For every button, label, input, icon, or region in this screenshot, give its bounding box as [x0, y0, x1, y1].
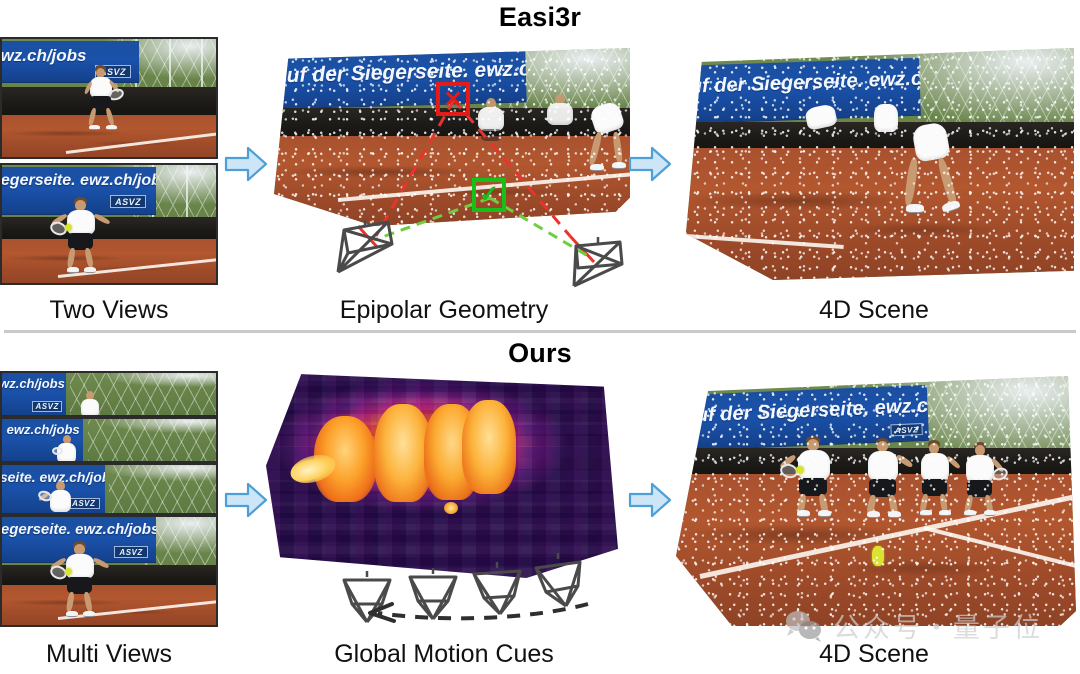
section-divider: [4, 330, 1076, 333]
camera-frustum-icon: [344, 571, 390, 622]
player-shoe: [67, 267, 79, 273]
player-shirt: [966, 455, 994, 482]
banner-text: auf der Siegerseite. ewz.ch/jobs: [678, 66, 920, 100]
player-shoe: [920, 510, 932, 516]
player-shirt: [66, 554, 94, 579]
tennis-court-scene: auf der Siegerseite. ewz.ch/jobs: [678, 48, 1074, 280]
tennis-player: [50, 541, 108, 619]
sponsor-badge: ASVZ: [32, 401, 62, 412]
scene-panel-ours: auf der Siegerseite. ewz.ch/jobs ASVZ: [672, 372, 1076, 630]
caption-4d-scene-top: 4D Scene: [672, 296, 1076, 325]
banner-text: egerseite. ewz.ch/jobs: [1, 172, 156, 190]
player-shirt: [868, 451, 898, 481]
player-shirt: [67, 210, 95, 235]
caption-global-motion-cues: Global Motion Cues: [258, 640, 630, 669]
player-leg: [66, 591, 75, 612]
multi-views-frame-1: wz.ch/jobs ASVZ: [0, 371, 218, 417]
tennis-ball: [65, 224, 72, 231]
two-views-frame-2: egerseite. ewz.ch/jobs ASVZ: [0, 163, 218, 285]
clay-surface: [678, 148, 1074, 280]
mismatch-symbol: ✕: [443, 88, 462, 111]
comparison-figure: Easi3r Ours wz.ch/jobs ASVZ: [0, 0, 1080, 674]
distorted-player-artifact: [806, 106, 840, 140]
flow-arrow-icon: [628, 478, 672, 522]
camera-frustum-icon: [536, 553, 580, 606]
cloud-content: auf der Siegerseite. ewz.ch/jobs: [678, 48, 1074, 280]
global-motion-cues-panel: [258, 368, 630, 638]
tennis-court-scene: . ewz.ch/jobs: [2, 419, 216, 461]
tennis-player: [52, 435, 82, 463]
multi-views-frame-3: seite. ewz.ch/jobs ASVZ: [0, 463, 218, 515]
player-shirt: [81, 399, 99, 417]
tennis-player: [80, 65, 124, 135]
player-shoe: [939, 510, 951, 516]
banner-text: wz.ch/jobs: [1, 46, 87, 66]
sponsor-banner: wz.ch/jobs ASVZ: [0, 373, 66, 417]
player-shoe: [984, 510, 996, 516]
player-leg: [67, 247, 76, 268]
camera-frustum-icon: [474, 562, 520, 614]
player-shoe: [106, 125, 117, 130]
point-cloud-reconstruction: auf der Siegerseite. ewz.ch/jobs: [678, 48, 1074, 280]
flow-arrow-icon: [628, 142, 672, 186]
motion-direction-arrow-icon: [370, 604, 588, 621]
player-shoe: [89, 125, 100, 130]
camera-trajectory-overlay: [258, 368, 630, 638]
caption-4d-scene-bottom: 4D Scene: [672, 640, 1076, 669]
player-shirt: [798, 450, 830, 480]
player-leg: [83, 591, 93, 612]
banner-text: egerseite. ewz.ch/jobs: [1, 521, 156, 538]
tennis-player: [38, 481, 78, 515]
tennis-player: [50, 197, 110, 275]
player-shirt: [911, 121, 951, 162]
match-symbol: ✓: [479, 183, 499, 207]
player-leg: [105, 107, 115, 126]
match-marker: ✓: [472, 178, 506, 212]
sponsor-badge: ASVZ: [890, 423, 922, 436]
tennis-court-scene: egerseite. ewz.ch/jobs ASVZ: [2, 517, 216, 625]
player-shoe: [906, 204, 924, 213]
scene-panel-easi3r: auf der Siegerseite. ewz.ch/jobs: [672, 42, 1076, 290]
tennis-ball: [65, 568, 72, 575]
caption-epipolar-geometry: Epipolar Geometry: [258, 296, 630, 325]
distorted-player-artifact: [906, 124, 972, 234]
player-shoe: [964, 510, 976, 516]
multi-views-frame-4: egerseite. ewz.ch/jobs ASVZ: [0, 515, 218, 627]
player-shoe: [818, 510, 831, 517]
player-shoe: [888, 511, 901, 518]
tennis-court-scene: egerseite. ewz.ch/jobs ASVZ: [2, 165, 216, 283]
cloud-content: auf der Siegerseite. ewz.ch/jobs ASVZ: [676, 376, 1076, 626]
tennis-ball: [796, 466, 804, 474]
player-shirt: [804, 103, 838, 131]
player-leg: [903, 157, 919, 206]
mismatch-marker: ✕: [436, 82, 470, 116]
player-shoe: [83, 611, 95, 617]
section-title-ours: Ours: [0, 338, 1080, 369]
reconstructed-player-instance: [954, 442, 1012, 516]
player-shirt: [921, 453, 949, 481]
camera-frustum-icon: [574, 237, 622, 286]
player-shoe: [941, 199, 961, 213]
sponsor-badge: ASVZ: [110, 195, 146, 208]
fence-icon: [109, 465, 216, 513]
player-arm: [92, 557, 109, 569]
player-leg: [88, 107, 97, 126]
point-cloud-reconstruction: auf der Siegerseite. ewz.ch/jobs ASVZ: [676, 376, 1076, 626]
player-arm: [93, 213, 110, 225]
court-wall: [2, 565, 216, 585]
player-shoe: [797, 510, 810, 517]
distorted-player-artifact: [874, 104, 904, 140]
tennis-court-scene: wz.ch/jobs ASVZ: [2, 39, 216, 157]
player-shoe: [867, 511, 880, 518]
player-shirt: [874, 104, 898, 132]
player-shoe: [84, 267, 96, 273]
two-views-frame-1: wz.ch/jobs ASVZ: [0, 37, 218, 159]
player-leg: [84, 247, 94, 268]
player-shirt: [50, 490, 71, 512]
tennis-court-scene: wz.ch/jobs ASVZ: [2, 373, 216, 415]
multi-views-frame-2: . ewz.ch/jobs: [0, 417, 218, 463]
caption-two-views: Two Views: [0, 296, 218, 325]
tennis-ball: [872, 546, 884, 566]
epipolar-lines-overlay: [258, 40, 630, 290]
racket-icon: [52, 447, 63, 455]
caption-multi-views: Multi Views: [0, 640, 218, 669]
tennis-player: [78, 391, 102, 417]
banner-text: auf der Siegerseite. ewz.ch/jobs: [684, 392, 929, 428]
section-title-easi3r: Easi3r: [0, 2, 1080, 33]
sponsor-badge: ASVZ: [114, 546, 148, 558]
player-shoe: [66, 611, 78, 617]
tennis-court-scene: seite. ewz.ch/jobs ASVZ: [2, 465, 216, 513]
epipolar-geometry-panel: auf der Siegerseite. ewz.ch/jobs: [258, 40, 630, 290]
reconstructed-player-instance: [854, 438, 916, 518]
banner-text: wz.ch/jobs: [0, 376, 65, 391]
camera-frustum-icon: [410, 568, 456, 619]
reconstructed-player-instance: [780, 436, 846, 518]
camera-frustum-icon: [338, 220, 392, 272]
fence-icon: [88, 419, 216, 461]
